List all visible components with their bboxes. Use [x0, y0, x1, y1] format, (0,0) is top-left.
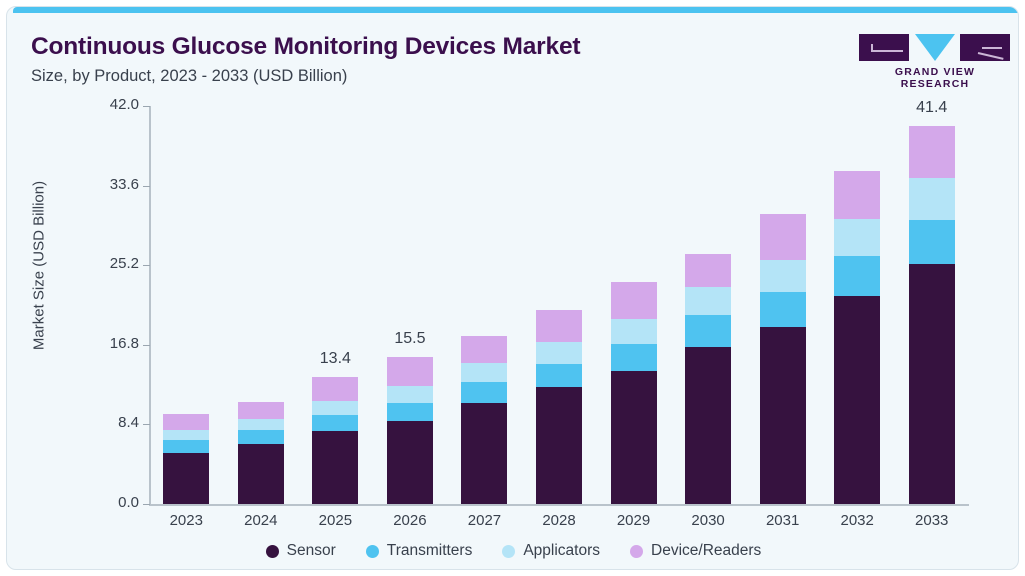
bar-segment-device-readers[interactable] — [461, 336, 507, 363]
bar-segment-transmitters[interactable] — [536, 364, 582, 388]
stacked-bar-chart: Market Size (USD Billion) 0.08.416.825.2… — [7, 7, 1019, 570]
y-axis-title: Market Size (USD Billion) — [31, 116, 48, 416]
x-tick-label: 2033 — [892, 512, 972, 529]
bar-segment-device-readers[interactable] — [909, 126, 955, 179]
bar-stack[interactable] — [685, 254, 731, 504]
bar-segment-applicators[interactable] — [312, 401, 358, 415]
y-tick-label: 8.4 — [77, 414, 139, 431]
bar-segment-device-readers[interactable] — [834, 171, 880, 218]
bar-segment-applicators[interactable] — [163, 430, 209, 440]
x-axis-line — [149, 504, 969, 506]
bar-segment-transmitters[interactable] — [238, 430, 284, 444]
x-tick-label: 2029 — [594, 512, 674, 529]
x-tick-label: 2031 — [743, 512, 823, 529]
y-tick-mark — [143, 106, 150, 107]
bar-segment-sensor[interactable] — [163, 453, 209, 504]
bar-segment-applicators[interactable] — [760, 260, 806, 292]
x-tick-label: 2027 — [444, 512, 524, 529]
bar-segment-transmitters[interactable] — [909, 220, 955, 265]
bar-segment-sensor[interactable] — [834, 296, 880, 504]
bar-segment-sensor[interactable] — [312, 431, 358, 504]
x-tick-label: 2032 — [817, 512, 897, 529]
bar-segment-applicators[interactable] — [387, 386, 433, 402]
x-tick-label: 2023 — [146, 512, 226, 529]
bar-segment-device-readers[interactable] — [312, 377, 358, 401]
y-tick-mark — [143, 504, 150, 505]
bar-segment-device-readers[interactable] — [238, 402, 284, 419]
bar-segment-device-readers[interactable] — [611, 282, 657, 319]
bar-stack[interactable] — [536, 310, 582, 504]
bar-segment-sensor[interactable] — [611, 371, 657, 504]
legend-label: Transmitters — [387, 542, 473, 560]
bar-segment-applicators[interactable] — [685, 287, 731, 315]
y-axis-line — [149, 106, 151, 505]
bar-segment-transmitters[interactable] — [834, 256, 880, 296]
x-tick-label: 2026 — [370, 512, 450, 529]
bar-stack[interactable] — [387, 357, 433, 504]
y-tick-mark — [143, 265, 150, 266]
y-tick-label: 42.0 — [77, 96, 139, 113]
x-tick-label: 2024 — [221, 512, 301, 529]
bar-total-label: 13.4 — [290, 350, 380, 368]
bar-segment-applicators[interactable] — [461, 363, 507, 382]
y-tick-label: 25.2 — [77, 255, 139, 272]
y-tick-mark — [143, 345, 150, 346]
legend-swatch-icon — [630, 545, 643, 558]
y-tick-label: 16.8 — [77, 335, 139, 352]
bar-segment-sensor[interactable] — [909, 264, 955, 504]
bar-segment-device-readers[interactable] — [163, 414, 209, 430]
bar-segment-applicators[interactable] — [834, 219, 880, 256]
legend-label: Device/Readers — [651, 542, 761, 560]
bar-stack[interactable] — [760, 214, 806, 504]
x-tick-label: 2025 — [295, 512, 375, 529]
y-tick-mark — [143, 186, 150, 187]
y-tick-label: 0.0 — [77, 494, 139, 511]
bar-segment-device-readers[interactable] — [387, 357, 433, 386]
bar-stack[interactable] — [611, 282, 657, 504]
y-tick-mark — [143, 424, 150, 425]
bar-segment-applicators[interactable] — [238, 419, 284, 430]
y-tick-label: 33.6 — [77, 176, 139, 193]
bar-segment-device-readers[interactable] — [685, 254, 731, 287]
bar-segment-transmitters[interactable] — [760, 292, 806, 327]
bar-stack[interactable] — [834, 171, 880, 504]
chart-card: Continuous Glucose Monitoring Devices Ma… — [6, 6, 1019, 570]
bar-segment-device-readers[interactable] — [536, 310, 582, 342]
legend-item-sensor[interactable]: Sensor — [266, 542, 336, 560]
legend-swatch-icon — [266, 545, 279, 558]
bar-stack[interactable] — [312, 377, 358, 504]
legend-item-applicators[interactable]: Applicators — [502, 542, 600, 560]
bar-stack[interactable] — [909, 126, 955, 504]
x-tick-label: 2030 — [668, 512, 748, 529]
bar-segment-transmitters[interactable] — [685, 315, 731, 346]
bar-segment-sensor[interactable] — [238, 444, 284, 504]
bar-segment-applicators[interactable] — [536, 342, 582, 364]
bar-total-label: 41.4 — [887, 99, 977, 117]
bar-segment-transmitters[interactable] — [163, 440, 209, 453]
bar-segment-device-readers[interactable] — [760, 214, 806, 259]
bar-segment-sensor[interactable] — [536, 387, 582, 504]
legend-label: Applicators — [523, 542, 600, 560]
bar-segment-sensor[interactable] — [760, 327, 806, 504]
bar-segment-applicators[interactable] — [611, 319, 657, 344]
bar-segment-transmitters[interactable] — [461, 382, 507, 403]
x-tick-label: 2028 — [519, 512, 599, 529]
bar-stack[interactable] — [238, 402, 284, 504]
bar-stack[interactable] — [461, 336, 507, 504]
bar-total-label: 15.5 — [365, 330, 455, 348]
bar-segment-transmitters[interactable] — [611, 344, 657, 371]
chart-legend: SensorTransmittersApplicatorsDevice/Read… — [7, 542, 1019, 560]
legend-swatch-icon — [502, 545, 515, 558]
legend-swatch-icon — [366, 545, 379, 558]
legend-item-transmitters[interactable]: Transmitters — [366, 542, 473, 560]
legend-label: Sensor — [287, 542, 336, 560]
bar-segment-sensor[interactable] — [387, 421, 433, 504]
bar-segment-transmitters[interactable] — [312, 415, 358, 431]
legend-item-device-readers[interactable]: Device/Readers — [630, 542, 761, 560]
bar-segment-sensor[interactable] — [685, 347, 731, 504]
bar-segment-transmitters[interactable] — [387, 403, 433, 421]
bar-stack[interactable] — [163, 414, 209, 504]
bar-segment-applicators[interactable] — [909, 178, 955, 219]
bar-segment-sensor[interactable] — [461, 403, 507, 504]
